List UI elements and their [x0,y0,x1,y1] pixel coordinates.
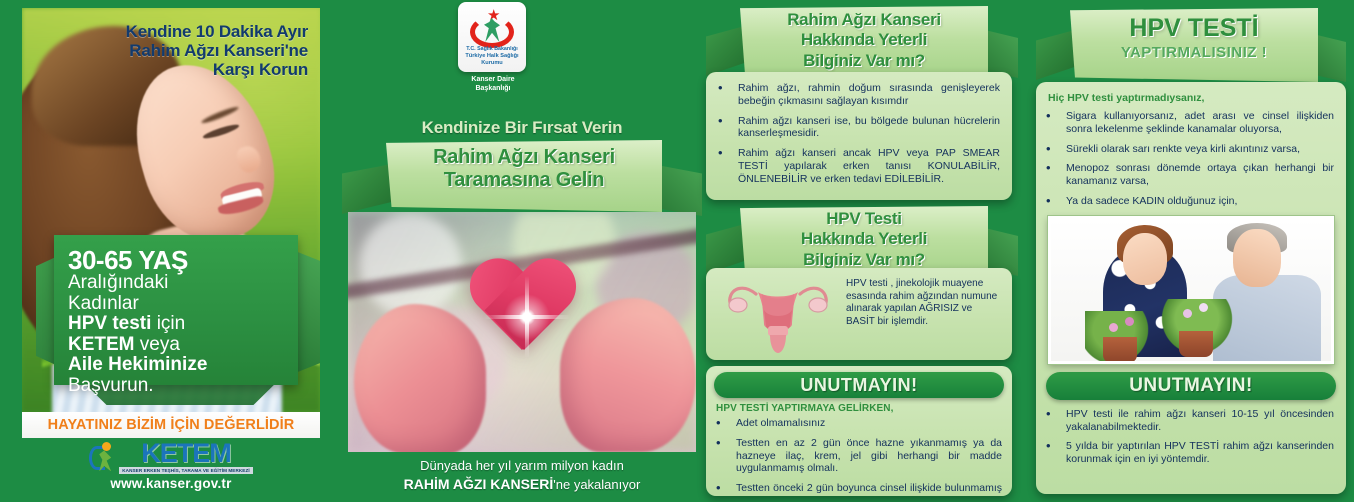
callout-line-7: Başvurun. [68,376,284,397]
hpv-must-test-ribbon: HPV TESTİ YAPTIRMALISINIZ ! [1036,8,1346,82]
ribbon-line-1: HPV Testi [740,209,988,229]
ketem-figure-icon [89,442,115,472]
ribbon-line-3: Bilginiz Var mı? [740,51,988,71]
panel1-headline: Kendine 10 Dakika Ayır Rahim Ağzı Kanser… [58,22,308,80]
hpv-test-title: HPV TESTİ [1070,16,1318,41]
ministry-line-1: T.C. Sağlık Bakanlığı [458,46,526,52]
caption-bold: RAHİM AĞZI KANSERİ [404,476,554,492]
remember-list: Adet olmamalısınız Testten en az 2 gün ö… [706,417,1012,496]
screening-ribbon-text: Rahim Ağzı Kanseri Taramasına Gelin [386,146,662,192]
ketem-name: KETEM [141,441,231,467]
caption-rest: 'ne yakalanıyor [553,477,640,492]
hand-right [560,298,696,452]
list-item: Rahim ağzı, rahmin doğum sırasında geniş… [708,82,1000,108]
ministry-line-2: Türkiye Halk Sağlığı Kurumu [458,53,526,66]
ketem-label: KETEM [68,334,135,355]
headline-line-1: Kendine 10 Dakika Ayır [58,22,308,41]
flower-icon [1183,309,1192,318]
hpv-description-card: HPV testi , jinekolojik muayene esasında… [706,268,1012,360]
ketem-tagline: KANSER ERKEN TEŞHİS, TARAMA VE EĞİTİM ME… [119,467,253,474]
remember-card: UNUTMAYIN! HPV TESTİ YAPTIRMAYA GELİRKEN… [706,366,1012,496]
flower-icon [1109,323,1118,332]
panel2-subtitle: Kendinize Bir Fırsat Verin [348,118,696,138]
remember-banner: UNUTMAYIN! [1046,372,1336,400]
ministry-line-3-text: Kurumu [481,60,502,66]
list-item: Sigara kullanıyorsanız, adet arası ve ci… [1036,110,1334,136]
list-item: Rahim ağzı kanseri ise, bu bölgede bulun… [708,115,1000,141]
remember-title: UNUTMAYIN! [1129,375,1253,397]
ministry-line-2-text: Türkiye Halk Sağlığı [465,53,518,59]
risk-list: Sigara kullanıyorsanız, adet arası ve ci… [1036,110,1346,208]
value-strip-text: HAYATINIZ BİZİM İÇİN DEĞERLİDİR [48,417,295,433]
hpv-test-ribbon-text: HPV Testi Hakkında Yeterli Bilginiz Var … [740,209,988,270]
sparkle-icon [500,290,554,344]
ketem-logo: KETEM KANSER ERKEN TEŞHİS, TARAMA VE EĞİ… [89,441,253,474]
list-item: Menopoz sonrası dönemde ortaya çıkan her… [1036,162,1334,188]
hpv-description-text: HPV testi , jinekolojik muayene esasında… [846,276,1000,328]
remember-lead: HPV TESTİ YAPTIRMAYA GELİRKEN, [706,398,1012,417]
headline-line-3: Karşı Korun [58,60,308,79]
remember-banner: UNUTMAYIN! [714,372,1004,398]
department-caption: Kanser DaireBaşkanlığı [448,76,538,94]
panel-information: Rahim Ağzı Kanseri Hakkında Yeterli Bilg… [700,0,1020,502]
list-item: Testten en az 2 gün önce hazne yıkanmamı… [706,437,1002,475]
panel1-footer: KETEM KANSER ERKEN TEŞHİS, TARAMA VE EĞİ… [22,438,320,494]
facts-list: Rahim ağzı, rahmin doğum sırasında geniş… [708,82,1000,186]
cervical-cancer-facts-card: Rahim ağzı, rahmin doğum sırasında geniş… [706,72,1012,200]
ketem-head-dot [102,442,111,451]
callout-line-4-rest: için [151,313,185,334]
risk-factors-card: Hiç HPV testi yaptırmadıysanız, Sigara k… [1036,82,1346,494]
smiling-woman-photo: Kendine 10 Dakika Ayır Rahim Ağzı Kanser… [22,8,320,412]
list-item: Testten önceki 2 gün boyunca cinsel iliş… [706,482,1002,496]
elderly-couple-photo [1048,216,1334,364]
ministry-of-health-logo: ★ T.C. Sağlık Bakanlığı Türkiye Halk Sağ… [458,2,526,72]
hand-left [354,304,486,452]
ribbon-line-1: Rahim Ağzı Kanseri [740,10,988,30]
callout-line-6: Aile Hekiminize [68,355,284,376]
family-doctor-label: Aile Hekiminize [68,354,207,375]
flower-pot-right [1159,299,1235,357]
list-item: Ya da sadece KADIN olduğunuz için, [1036,195,1334,208]
callout-line-5-rest: veya [135,334,180,355]
age-callout-box: 30-65 YAŞ Aralığındaki Kadınlar HPV test… [54,235,298,385]
remember-list: HPV testi ile rahim ağzı kanseri 10-15 y… [1036,400,1346,466]
cervical-cancer-ribbon-text: Rahim Ağzı Kanseri Hakkında Yeterli Bilg… [740,10,988,71]
ribbon-line-2: Taramasına Gelin [386,169,662,192]
flower-pot-left [1085,311,1157,363]
headline-line-2: Rahim Ağzı Kanseri'ne [58,41,308,60]
ribbon-line-2: Hakkında Yeterli [740,30,988,50]
hpv-test-label: HPV testi [68,313,151,334]
hands-holding-heart-photo [348,212,696,452]
man-head [1233,229,1281,287]
caption-line-2: RAHİM AĞZI KANSERİ'ne yakalanıyor [348,475,696,494]
callout-line-3: Kadınlar [68,294,284,315]
callout-line-5: KETEM veya [68,335,284,356]
value-strip: HAYATINIZ BİZİM İÇİN DEĞERLİDİR [22,412,320,438]
uterus-illustration [718,276,838,354]
ketem-website-url[interactable]: www.kanser.gov.tr [110,476,231,491]
flower-icon [1125,317,1134,326]
list-item: HPV testi ile rahim ağzı kanseri 10-15 y… [1036,408,1334,434]
age-callout: 30-65 YAŞ Aralığındaki Kadınlar HPV test… [54,235,298,385]
list-item: Adet olmamalısınız [706,417,1002,430]
list-item: 5 yılda bir yaptırılan HPV TESTİ rahim a… [1036,440,1334,466]
risk-lead: Hiç HPV testi yaptırmadıysanız, [1036,82,1346,110]
callout-line-4: HPV testi için [68,314,284,335]
panel-awareness: Kendine 10 Dakika Ayır Rahim Ağzı Kanser… [22,8,320,494]
remember-title: UNUTMAYIN! [800,375,917,396]
cervical-cancer-ribbon: Rahim Ağzı Kanseri Hakkında Yeterli Bilg… [706,6,1018,78]
panel2-caption: Dünyada her yıl yarım milyon kadın RAHİM… [348,458,696,494]
callout-line-2: Aralığındaki [68,273,284,294]
screening-ribbon: Rahim Ağzı Kanseri Taramasına Gelin [342,140,702,212]
brochure-canvas: Kendine 10 Dakika Ayır Rahim Ağzı Kanser… [0,0,1354,502]
caption-line-1: Dünyada her yıl yarım milyon kadın [348,458,696,475]
panel-call-to-action: HPV TESTİ YAPTIRMALISINIZ ! Hiç HPV test… [1032,0,1350,502]
ketem-wordmark: KETEM KANSER ERKEN TEŞHİS, TARAMA VE EĞİ… [119,441,253,474]
age-range: 30-65 YAŞ [68,247,284,273]
woman-head [1123,233,1167,285]
panel-invitation: ★ T.C. Sağlık Bakanlığı Türkiye Halk Sağ… [348,0,696,502]
ribbon-line-1: Rahim Ağzı Kanseri [386,146,662,169]
ribbon-line-2: Hakkında Yeterli [740,229,988,249]
flower-icon [1199,303,1208,312]
hpv-test-subtitle: YAPTIRMALISINIZ ! [1070,44,1318,61]
list-item: Rahim ağzı kanseri ancak HPV veya PAP SM… [708,147,1000,185]
list-item: Sürekli olarak sarı renkte veya kirli ak… [1036,143,1334,156]
hpv-test-ribbon: HPV Testi Hakkında Yeterli Bilginiz Var … [706,206,1018,276]
